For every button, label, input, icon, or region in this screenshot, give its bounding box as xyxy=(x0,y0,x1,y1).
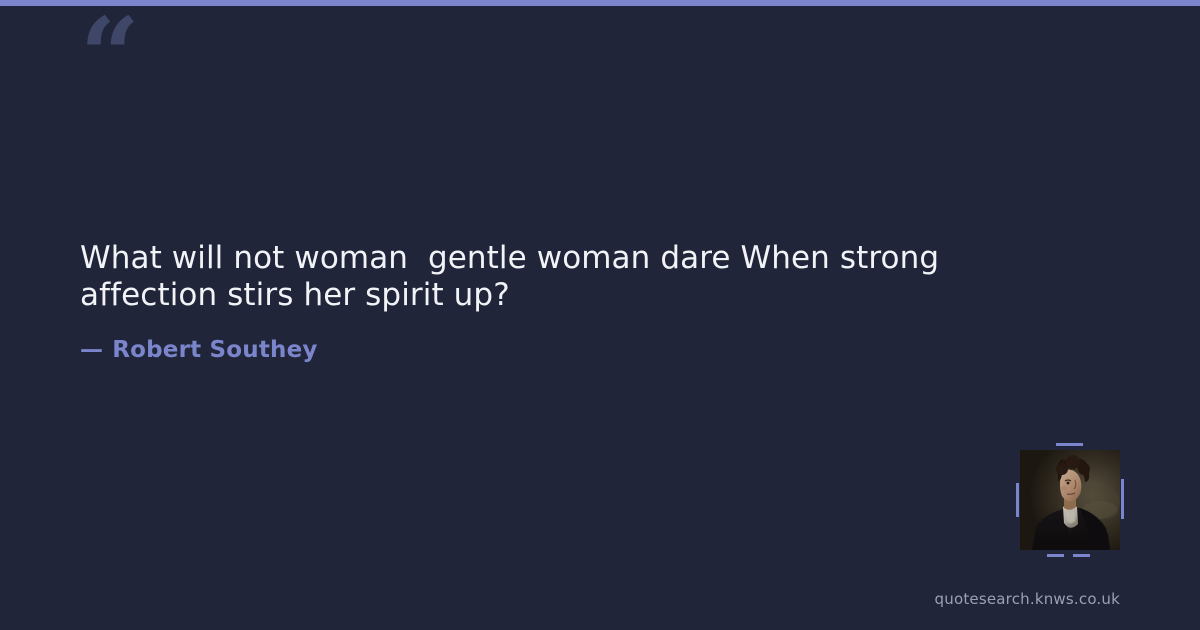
top-accent-bar xyxy=(0,0,1200,6)
author-name: Robert Southey xyxy=(112,337,317,363)
portrait-tick-bottom-right xyxy=(1073,554,1090,557)
portrait-tick-left xyxy=(1016,483,1019,517)
quote-card: “ What will not woman gentle woman dare … xyxy=(0,0,1200,630)
quote-body: What will not woman gentle woman dare Wh… xyxy=(80,240,1080,313)
opening-quotation-mark-icon: “ xyxy=(80,4,138,108)
portrait-tick-bottom-left xyxy=(1047,554,1064,557)
quote-text: What will not woman gentle woman dare Wh… xyxy=(80,240,1080,313)
portrait-tick-right xyxy=(1121,479,1124,519)
site-watermark: quotesearch.knws.co.uk xyxy=(935,590,1120,608)
author-portrait xyxy=(1020,450,1120,550)
portrait-tick-top xyxy=(1056,443,1083,446)
author-portrait-frame xyxy=(1020,450,1120,550)
attribution-dash: — xyxy=(80,337,103,363)
attribution: — Robert Southey xyxy=(80,337,318,363)
